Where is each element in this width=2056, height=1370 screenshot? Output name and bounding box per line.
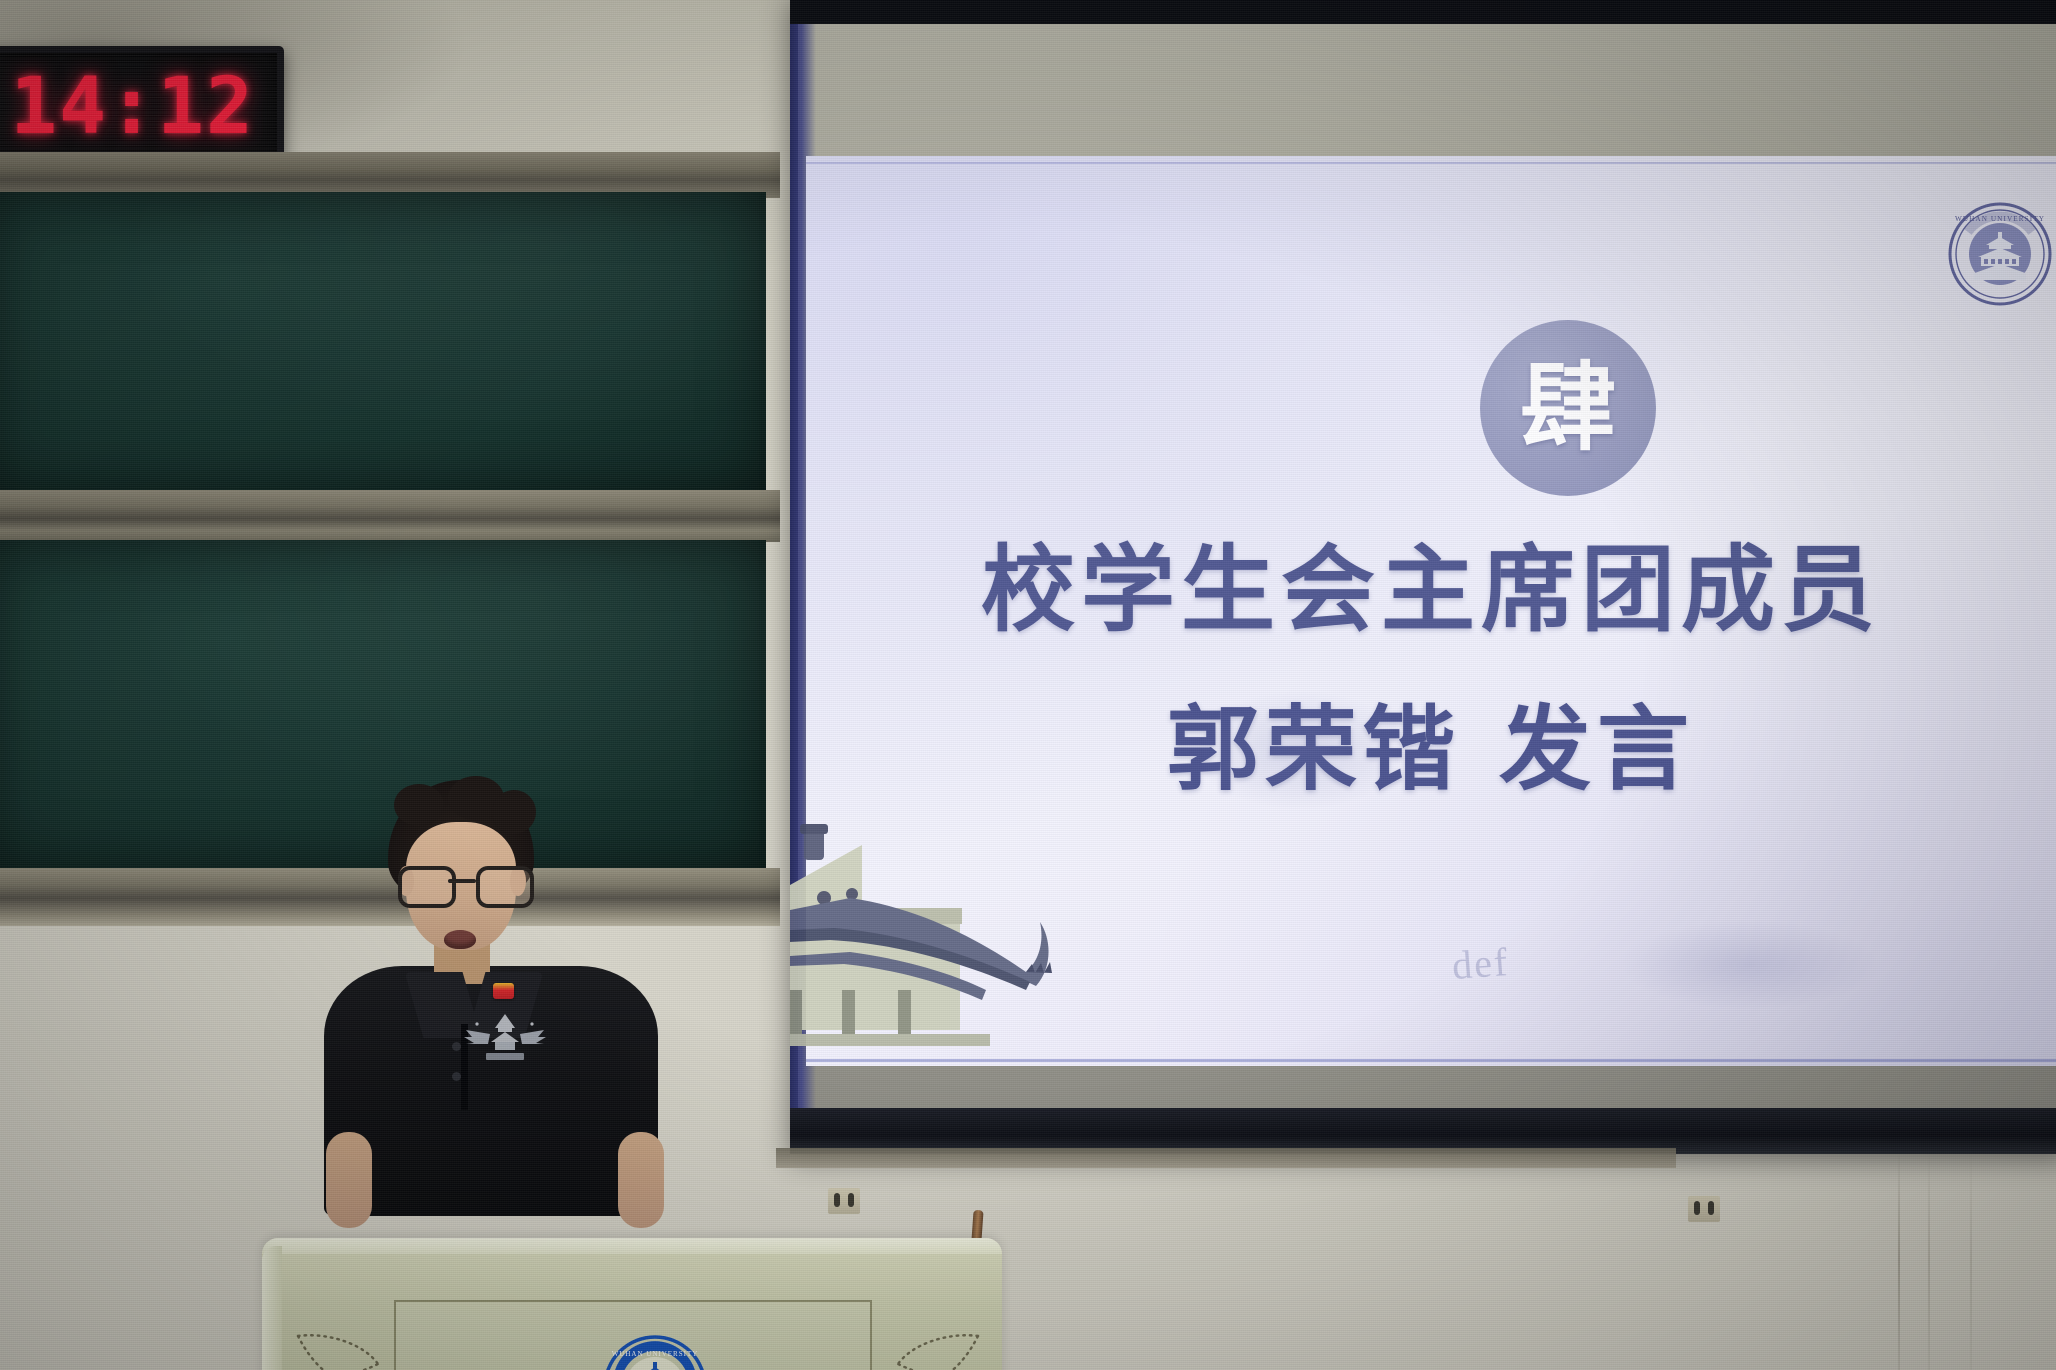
- party-emblem-pin: [493, 983, 514, 999]
- screen-bracket-left: [828, 1188, 860, 1214]
- slide-section-number: 肆: [1520, 360, 1616, 456]
- speaker-right-arm: [618, 1132, 664, 1228]
- winged-crest-icon: [462, 1008, 548, 1066]
- slide-section-badge: 肆: [1480, 320, 1656, 496]
- screen-surface-mark: def: [1450, 938, 1510, 989]
- pagoda-illustration: [790, 790, 1210, 1070]
- podium-wuhan-university-logo: WUHAN UNIVERSITY 1893: [602, 1334, 708, 1370]
- podium-ornament-right: [892, 1330, 984, 1370]
- speaker-polo-button: [452, 1042, 461, 1051]
- wall-seam-a: [1898, 1150, 1900, 1370]
- slide-title-line2: 郭荣锴 发言: [806, 700, 2056, 799]
- photo-scene: 14:12: [0, 0, 2056, 1370]
- blackboard-panel-upper: [0, 192, 766, 492]
- speaker-hair-tuft-3: [492, 790, 536, 834]
- screen-bracket-right: [1688, 1196, 1720, 1222]
- speaker-hair-tuft-1: [394, 784, 444, 826]
- screen-mount-rail: [776, 1148, 1676, 1168]
- wall-seam-b: [1928, 1150, 1930, 1370]
- slide-title-line1: 校学生会主席团成员: [806, 540, 2056, 642]
- speaker-left-arm: [326, 1132, 372, 1228]
- speaker: [330, 780, 650, 1200]
- led-clock: 14:12: [0, 46, 284, 168]
- podium-left-edge: [262, 1246, 282, 1370]
- glasses-bridge: [448, 879, 476, 883]
- podium: WUHAN UNIVERSITY 1893: [262, 1238, 1002, 1370]
- svg-text:1893: 1893: [1990, 285, 2011, 292]
- wall-seam-c: [1970, 1150, 1972, 1370]
- glasses-lens-right: [476, 866, 534, 908]
- screen-top-bar: [790, 0, 2056, 24]
- blackboard-middle-rail: [0, 490, 780, 542]
- podium-top-surface: [262, 1238, 1002, 1254]
- speaker-glasses: [398, 866, 526, 900]
- glasses-lens-left: [398, 866, 456, 908]
- podium-ornament-left: [292, 1330, 384, 1370]
- wuhan-university-seal-icon: WUHAN UNIVERSITY 1893: [1948, 202, 2052, 306]
- clock-time-display: 14:12: [10, 68, 277, 146]
- speaker-polo-button-2: [452, 1072, 461, 1081]
- svg-text:WUHAN UNIVERSITY: WUHAN UNIVERSITY: [612, 1350, 699, 1358]
- slide-top-edge: [806, 162, 2056, 164]
- speaker-mouth: [444, 930, 476, 949]
- svg-text:WUHAN UNIVERSITY: WUHAN UNIVERSITY: [1955, 215, 2045, 223]
